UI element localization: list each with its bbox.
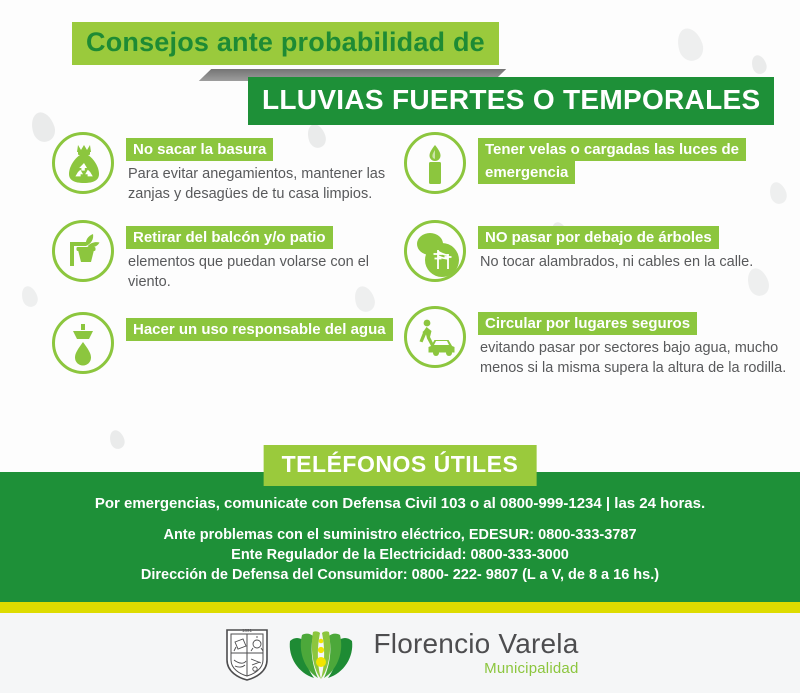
tip-tag-line: NO pasar por debajo de árboles [478,226,790,249]
tip-text: Hacer un uso responsable del agua [122,312,398,345]
tip-tag-line: Retirar del balcón y/o patio [126,226,398,249]
poster-footer: 1891 [0,613,800,693]
brand-subtitle: Municipalidad [374,661,579,676]
brand-text: Florencio Varela Municipalidad [374,630,579,676]
tip-tag: Hacer un uso responsable del agua [126,318,393,341]
tip-tag: Retirar del balcón y/o patio [126,226,333,249]
tip-tag: Tener velas o cargadas las luces de emer… [478,138,746,184]
tips-column-left: No sacar la basura Para evitar anegamien… [48,132,398,396]
tip-text: Circular por lugares seguros evitando pa… [474,306,790,378]
tip-item: Retirar del balcón y/o patio elementos q… [48,220,398,294]
tip-tag: Circular por lugares seguros [478,312,697,335]
header-line-1: Consejos ante probabilidad de [72,22,499,65]
phone-list: Ante problemas con el suministro eléctri… [0,514,800,585]
pedestrian-car-glyph [400,306,470,372]
tip-text: Retirar del balcón y/o patio elementos q… [122,220,398,292]
crest-year: 1891 [241,628,252,633]
tip-description: elementos que puedan volarse con el vien… [128,253,398,292]
yellow-divider [0,602,800,613]
tip-item: Hacer un uso responsable del agua [48,312,398,386]
tip-tag-line: Tener velas o cargadas las luces de emer… [478,138,790,184]
pedestrian-car-icon [400,306,474,380]
faucet-water-drop-glyph [48,312,118,378]
faucet-water-drop-icon [48,312,122,386]
poster-header: Consejos ante probabilidad de LLUVIAS FU… [0,0,800,132]
tip-description: No tocar alambrados, ni cables en la cal… [480,253,790,273]
tip-text: No sacar la basura Para evitar anegamien… [122,132,398,204]
tip-description: Para evitar anegamientos, mantener las z… [128,165,398,204]
phone-list-item: Ante problemas con el suministro eléctri… [0,525,800,545]
balcony-plant-pot-icon [48,220,122,294]
tip-item: NO pasar por debajo de árboles No tocar … [400,220,790,294]
tree-power-lines-glyph [400,220,470,286]
tip-item: No sacar la basura Para evitar anegamien… [48,132,398,206]
tips-column-right: Tener velas o cargadas las luces de emer… [400,132,790,390]
useful-phones-title: TELÉFONOS ÚTILES [264,445,537,486]
balcony-plant-pot-glyph [48,220,118,286]
header-line-2: LLUVIAS FUERTES O TEMPORALES [248,77,774,125]
tip-tag-line: Hacer un uso responsable del agua [126,318,398,341]
tip-item: Tener velas o cargadas las luces de emer… [400,132,790,206]
candle-glyph [400,132,470,198]
candle-icon [400,132,474,206]
trash-bag-recycle-glyph [48,132,118,198]
tip-tag-line: Circular por lugares seguros [478,312,790,335]
trash-bag-recycle-icon [48,132,122,206]
tip-item: Circular por lugares seguros evitando pa… [400,306,790,380]
infographic-poster: Consejos ante probabilidad de LLUVIAS FU… [0,0,800,693]
phone-list-item: Dirección de Defensa del Consumidor: 080… [0,565,800,585]
tips-section: No sacar la basura Para evitar anegamien… [0,132,800,434]
tip-tag: No sacar la basura [126,138,273,161]
brand-name: Florencio Varela [374,630,579,658]
tip-description: evitando pasar por sectores bajo agua, m… [480,339,790,378]
coat-of-arms-icon: 1891 [222,624,272,682]
tree-power-lines-icon [400,220,474,294]
useful-phones-panel: TELÉFONOS ÚTILES Por emergencias, comuni… [0,472,800,602]
tip-text: NO pasar por debajo de árboles No tocar … [474,220,790,273]
tip-tag-line: No sacar la basura [126,138,398,161]
tip-text: Tener velas o cargadas las luces de emer… [474,132,790,188]
tip-tag: NO pasar por debajo de árboles [478,226,719,249]
phone-list-item: Ente Regulador de la Electricidad: 0800-… [0,545,800,565]
florencio-varela-leaf-logo-icon [284,623,358,683]
